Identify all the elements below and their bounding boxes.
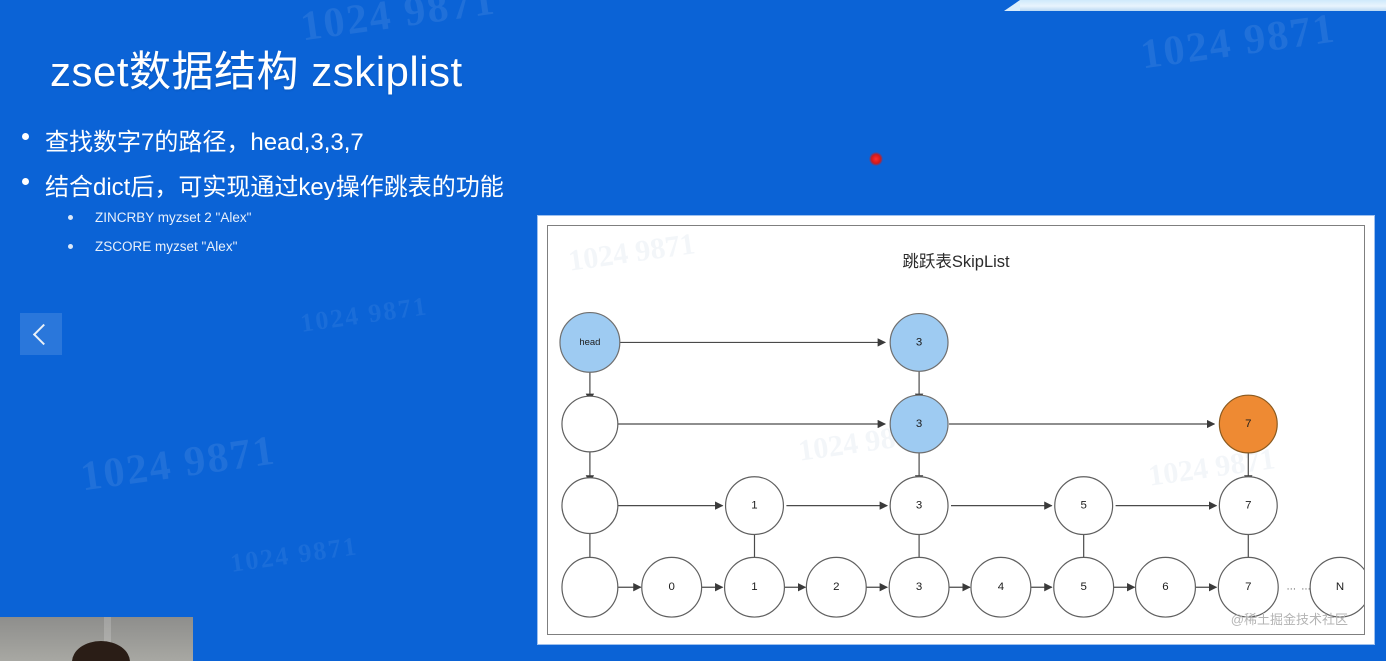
laser-pointer-dot (869, 152, 883, 166)
top-bar (1020, 0, 1386, 11)
skiplist-diagram-panel: 1024 9871 1024 9871 1024 9871 跳跃表SkipLis… (538, 216, 1374, 644)
sub-bullet-dot-icon (68, 244, 73, 249)
svg-text:7: 7 (1245, 500, 1251, 512)
svg-text:3: 3 (916, 500, 922, 512)
sub-bullet-item: ZSCORE myzset "Alex" (68, 239, 237, 254)
svg-text:5: 5 (1080, 581, 1086, 593)
prev-slide-button[interactable] (20, 313, 62, 355)
webcam-person-silhouette (72, 641, 130, 661)
svg-text:0: 0 (669, 581, 675, 593)
svg-text:head: head (579, 337, 600, 348)
svg-text:3: 3 (916, 581, 922, 593)
svg-text:4: 4 (998, 581, 1005, 593)
svg-text:… …: … … (1286, 582, 1312, 593)
webcam-overlay (0, 617, 193, 661)
sub-bullet-text: ZSCORE myzset "Alex" (95, 239, 237, 254)
bullet-dot-icon (22, 133, 29, 140)
background-watermark: 1024 9871 (78, 427, 279, 502)
chevron-left-icon (32, 323, 53, 344)
svg-text:3: 3 (916, 418, 922, 430)
sub-bullet-text: ZINCRBY myzset 2 "Alex" (95, 210, 251, 225)
background-watermark: 1024 9871 (229, 531, 360, 579)
diagram-watermark: @稀土掘金技术社区 (1231, 609, 1348, 628)
bullet-dot-icon (22, 178, 29, 185)
bullet-text: 结合dict后，可实现通过key操作跳表的功能 (45, 167, 504, 202)
svg-text:7: 7 (1245, 581, 1251, 593)
bullet-item: 查找数字7的路径，head,3,3,7 (22, 122, 364, 157)
background-watermark: 1024 9871 (1138, 5, 1339, 80)
svg-text:2: 2 (833, 581, 839, 593)
svg-text:3: 3 (916, 336, 922, 348)
svg-text:1: 1 (751, 581, 757, 593)
bullet-text: 查找数字7的路径，head,3,3,7 (45, 122, 364, 157)
skiplist-graph: head 3 3 7 1 3 5 7 (548, 226, 1364, 634)
svg-text:6: 6 (1162, 581, 1168, 593)
background-watermark: 1024 9871 (299, 291, 430, 339)
bullet-item: 结合dict后，可实现通过key操作跳表的功能 (22, 167, 504, 202)
page-title: zset数据结构 zskiplist (50, 38, 463, 99)
svg-text:5: 5 (1080, 500, 1086, 512)
sub-bullet-item: ZINCRBY myzset 2 "Alex" (68, 210, 251, 225)
svg-text:1: 1 (751, 500, 757, 512)
skiplist-diagram-inner: 1024 9871 1024 9871 1024 9871 跳跃表SkipLis… (547, 225, 1365, 635)
sub-bullet-dot-icon (68, 215, 73, 220)
svg-text:N: N (1336, 581, 1344, 593)
svg-text:7: 7 (1245, 418, 1251, 430)
